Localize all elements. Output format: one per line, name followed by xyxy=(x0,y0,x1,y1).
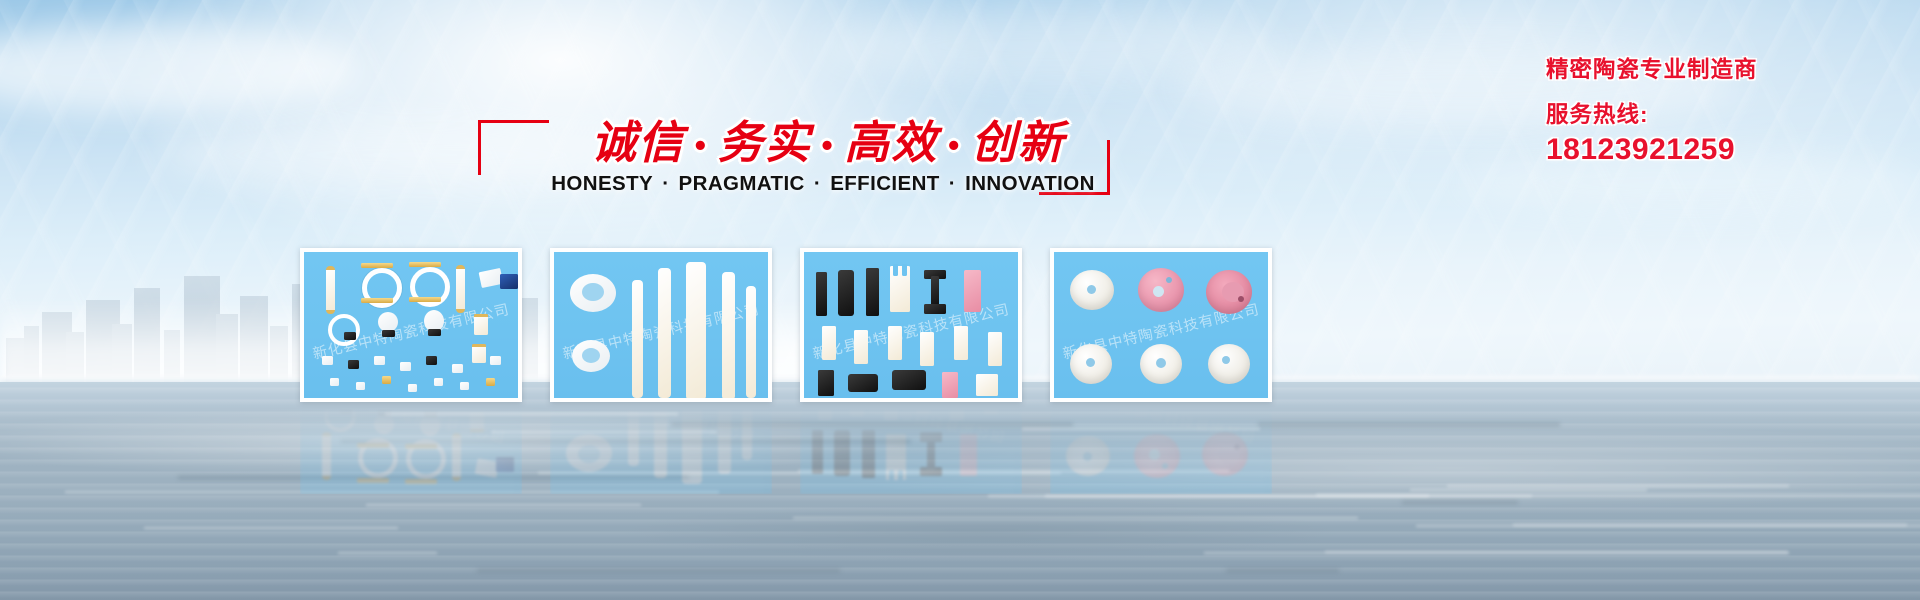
ground-streak xyxy=(1045,495,1429,497)
company-tagline: 精密陶瓷专业制造商 xyxy=(1546,52,1886,84)
ceramic-block xyxy=(850,402,864,416)
small-chip xyxy=(452,364,463,373)
black-tbar xyxy=(920,432,942,442)
disc-bore xyxy=(1162,463,1168,469)
slogan-separator: • xyxy=(812,132,845,162)
panel-reflection: 新化县中特陶瓷科技有限公司 xyxy=(300,402,522,494)
ceramic-block xyxy=(888,326,902,360)
panel-image-area: 新化县中特陶瓷科技有限公司 xyxy=(804,252,1018,398)
ceramic-rod xyxy=(718,402,731,474)
bracket-top-left xyxy=(478,120,549,175)
black-block xyxy=(892,370,926,390)
blue-chip xyxy=(496,457,514,472)
gold-contact xyxy=(405,479,437,484)
black-clip xyxy=(834,430,850,476)
small-chip xyxy=(330,378,339,386)
slogan-word: 创新 xyxy=(971,116,1065,169)
ceramic-block xyxy=(854,330,868,364)
fork-slot xyxy=(893,264,898,276)
disc-bore xyxy=(1087,285,1096,294)
ground-streak xyxy=(988,495,1532,497)
panel-image-area: 新化县中特陶瓷科技有限公司 xyxy=(300,402,514,494)
small-chip xyxy=(322,356,333,365)
product-panel-blocks-and-fixtures[interactable]: 新化县中特陶瓷科技有限公司 xyxy=(800,248,1022,402)
ceramic-block xyxy=(988,332,1002,366)
black-bar xyxy=(816,272,827,316)
gold-contact xyxy=(361,263,393,268)
panel-image-area: 新化县中特陶瓷科技有限公司 xyxy=(1050,402,1264,494)
ceramic-block xyxy=(984,402,998,414)
disc-bore xyxy=(1156,358,1166,368)
panel-reflection: 新化县中特陶瓷科技有限公司 xyxy=(550,402,772,494)
black-chip xyxy=(340,406,352,414)
ceramic-bushing xyxy=(568,402,606,406)
disc-bore xyxy=(1086,358,1095,367)
slogan-word: 诚信 xyxy=(591,116,685,169)
cloud xyxy=(0,24,360,114)
panel-image-area: 新化县中特陶瓷科技有限公司 xyxy=(554,252,768,398)
ceramic-rod xyxy=(658,268,671,398)
blue-chip xyxy=(500,274,518,289)
gold-contact xyxy=(357,443,389,448)
ground-streak xyxy=(1204,552,1789,554)
ceramic-strip xyxy=(456,265,465,313)
slogan-separator: · xyxy=(940,172,965,195)
slogan-english: HONESTY · PRAGMATIC · EFFICIENT · INNOVA… xyxy=(538,172,1108,196)
panel-image-area: 新化县中特陶瓷科技有限公司 xyxy=(1054,252,1268,398)
ground-streak xyxy=(144,527,398,529)
ceramic-block xyxy=(472,344,486,363)
hotline-number[interactable]: 18123921259 xyxy=(1546,133,1886,167)
ceramic-disc xyxy=(420,414,440,436)
ground-streak xyxy=(1226,569,1339,572)
pink-block xyxy=(964,270,981,312)
ceramic-disc xyxy=(378,312,398,332)
ceramic-rod xyxy=(722,272,735,398)
ceramic-strip xyxy=(452,433,461,481)
gold-contact xyxy=(409,262,441,267)
slogan-word-en: PRAGMATIC xyxy=(679,172,805,195)
small-chip xyxy=(348,360,359,369)
panel-image-area: 新化县中特陶瓷科技有限公司 xyxy=(800,402,1014,494)
black-chip xyxy=(344,332,356,340)
panel-reflection: 新化县中特陶瓷科技有限公司 xyxy=(1050,402,1272,494)
gold-contact xyxy=(409,297,441,302)
black-tbar xyxy=(927,440,935,470)
fork-slot xyxy=(898,470,903,482)
ceramic-block xyxy=(954,326,968,360)
ceramic-rod xyxy=(746,286,756,398)
ground-streak xyxy=(1447,485,1789,487)
ceramic-block xyxy=(884,402,898,420)
pink-block xyxy=(960,434,977,476)
small-chip xyxy=(460,382,469,390)
ceramic-ring xyxy=(328,314,360,346)
panel-image-area: 新化县中特陶瓷科技有限公司 xyxy=(304,252,518,398)
black-chip xyxy=(428,329,441,336)
gold-contact xyxy=(405,444,437,449)
ceramic-rod xyxy=(742,402,752,460)
product-panel-discs-and-caps[interactable]: 新化县中特陶瓷科技有限公司 xyxy=(1050,248,1272,402)
ceramic-strip xyxy=(322,432,331,480)
black-bar xyxy=(812,430,823,474)
product-panel-tubes-and-rods[interactable]: 新化县中特陶瓷科技有限公司 xyxy=(550,248,772,402)
bushing-bore xyxy=(578,445,600,463)
disc-bore xyxy=(1222,356,1230,364)
black-clip xyxy=(838,270,854,316)
ceramic-block xyxy=(976,374,998,396)
black-tbar xyxy=(924,304,946,314)
bushing-bore xyxy=(582,283,604,301)
small-chip xyxy=(408,384,417,392)
pink-block xyxy=(942,372,958,398)
ceramic-rod xyxy=(654,402,667,478)
small-chip xyxy=(400,362,411,371)
ground-streak xyxy=(477,569,840,572)
ceramic-block xyxy=(950,402,964,420)
ceramic-tube xyxy=(686,262,706,398)
black-block xyxy=(818,370,834,396)
bushing-bore xyxy=(582,348,600,363)
black-chip xyxy=(424,410,437,417)
black-bar xyxy=(862,430,875,478)
small-chip xyxy=(374,356,385,365)
ceramic-rod xyxy=(632,280,643,398)
ceramic-block xyxy=(822,326,836,360)
slogan-word: 务实 xyxy=(718,116,812,169)
ceramic-tube xyxy=(682,402,702,484)
small-chip xyxy=(426,356,437,365)
ground-streak xyxy=(1325,551,1789,553)
ground-streak xyxy=(1402,501,1518,504)
ground-streak xyxy=(793,517,1358,519)
slogan-word-en: HONESTY xyxy=(551,172,653,195)
panel-reflection: 新化县中特陶瓷科技有限公司 xyxy=(800,402,1022,494)
black-bar xyxy=(866,268,879,316)
black-block xyxy=(848,374,878,392)
ground-streak xyxy=(1416,525,1920,527)
disc-bore xyxy=(1153,286,1164,297)
slogan-word-en: EFFICIENT xyxy=(830,172,940,195)
gold-contact xyxy=(361,298,393,303)
slogan-separator: · xyxy=(805,172,830,195)
small-chip xyxy=(434,378,443,386)
small-chip xyxy=(382,376,391,384)
contact-block: 精密陶瓷专业制造商 服务热线: 18123921259 xyxy=(1546,52,1886,167)
ceramic-block xyxy=(916,402,930,414)
ground-streak xyxy=(1410,489,1647,491)
cap-bore xyxy=(1234,444,1240,450)
slogan-separator: • xyxy=(938,132,971,162)
disc-bore xyxy=(1149,449,1160,460)
ceramic-block xyxy=(818,402,832,420)
ceramic-block xyxy=(470,411,484,432)
ceramic-block xyxy=(920,332,934,366)
fork-slot xyxy=(889,470,894,482)
ground-streak xyxy=(1316,494,1920,496)
black-chip xyxy=(382,330,395,337)
fork-slot xyxy=(902,264,907,276)
ceramic-block xyxy=(474,314,488,335)
ceramic-disc xyxy=(374,414,394,434)
cloud xyxy=(820,10,1280,82)
product-panel-group: 新化县中特陶瓷科技有限公司 新化县中特陶瓷科技有限公司 新化县中特陶瓷科技有限公… xyxy=(300,248,1278,402)
slogan-word: 高效 xyxy=(844,116,938,169)
small-chip xyxy=(356,382,365,390)
ground-streak xyxy=(338,552,437,554)
gold-contact xyxy=(357,478,389,483)
product-panel-chips-and-rings[interactable]: 新化县中特陶瓷科技有限公司 xyxy=(300,248,522,402)
disc-bore xyxy=(1166,277,1172,283)
cap-bore xyxy=(1238,296,1244,302)
slogan-separator: · xyxy=(653,172,678,195)
ceramic-strip xyxy=(326,266,335,314)
slogan-block: 诚信•务实•高效•创新 HONESTY · PRAGMATIC · EFFICI… xyxy=(470,106,1110,206)
slogan-word-en: INNOVATION xyxy=(965,172,1095,195)
ground-streak xyxy=(366,504,641,506)
panel-image-area: 新化县中特陶瓷科技有限公司 xyxy=(550,402,764,494)
black-chip xyxy=(378,409,391,416)
slogan-separator: • xyxy=(685,132,718,162)
banner-root: 诚信•务实•高效•创新 HONESTY · PRAGMATIC · EFFICI… xyxy=(0,0,1920,600)
disc-bore xyxy=(1083,452,1092,461)
small-chip xyxy=(490,356,501,365)
black-tbar xyxy=(931,276,939,306)
ground-streak xyxy=(1258,423,1560,426)
slogan-chinese: 诚信•务实•高效•创新 xyxy=(548,106,1108,171)
white-disc xyxy=(1208,344,1250,384)
small-chip xyxy=(486,378,495,386)
ground-streak xyxy=(1513,524,1908,526)
hotline-label: 服务热线: xyxy=(1546,97,1886,129)
ceramic-rod xyxy=(628,402,639,466)
